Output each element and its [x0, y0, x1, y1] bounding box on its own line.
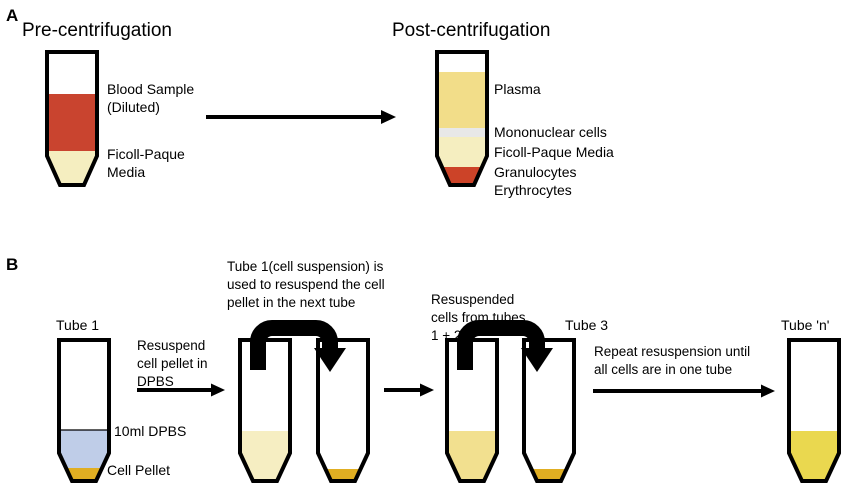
label-tube-3: Tube 3: [565, 317, 608, 335]
step-arrow-2: [383, 382, 435, 398]
centrifugation-arrow: [205, 108, 397, 126]
pour-arrow-step-3: [451, 320, 567, 390]
pre-centrifugation-tube: [40, 48, 104, 194]
step-arrow-1: [136, 382, 226, 398]
label-cell-pellet: Cell Pellet: [107, 462, 170, 480]
post-centrifugation-tube: [430, 48, 494, 194]
label-blood-sample: Blood Sample (Diluted): [107, 81, 194, 116]
tube-layer-blood-sample: [40, 94, 104, 151]
tube-layer-cell-pellet: [517, 469, 581, 486]
pre-centrifugation-heading: Pre-centrifugation: [22, 21, 172, 42]
tube-layer-air: [40, 48, 104, 94]
tube-layer-plasma: [430, 72, 494, 128]
panel-b-letter: B: [6, 256, 18, 273]
label-ficoll-paque-media-post: Ficoll-Paque Media: [494, 144, 614, 162]
label-mononuclear-cells: Mononuclear cells: [494, 124, 607, 142]
post-centrifugation-heading: Post-centrifugation: [392, 21, 550, 42]
tube-layer-air: [52, 336, 116, 430]
tube-layer-air: [782, 336, 846, 431]
tube-layer-mononuclear-cells: [430, 128, 494, 137]
label-plasma: Plasma: [494, 81, 541, 99]
figure-canvas: A Pre-centrifugation Blood Sample (Dilut…: [0, 0, 850, 486]
pour-arrow-step-2: [244, 320, 360, 390]
tube-n: [782, 336, 846, 486]
tube-layer-granulocytes-erythrocytes: [430, 167, 494, 194]
tube-layer-cell-pellet: [311, 469, 375, 486]
label-ficoll-paque-media-pre: Ficoll-Paque Media: [107, 146, 185, 181]
label-granulocytes-erythrocytes: Granulocytes Erythrocytes: [494, 164, 576, 199]
label-tube-1: Tube 1: [56, 317, 99, 335]
caption-tube-1-cell-suspension: Tube 1(cell suspension) is used to resus…: [227, 258, 385, 311]
label-tube-n: Tube 'n': [781, 317, 829, 335]
caption-repeat-resuspension: Repeat resuspension until all cells are …: [594, 343, 750, 379]
step-arrow-3: [592, 383, 776, 399]
panel-a-letter: A: [6, 7, 18, 24]
label-10ml-dpbs: 10ml DPBS: [114, 423, 186, 441]
